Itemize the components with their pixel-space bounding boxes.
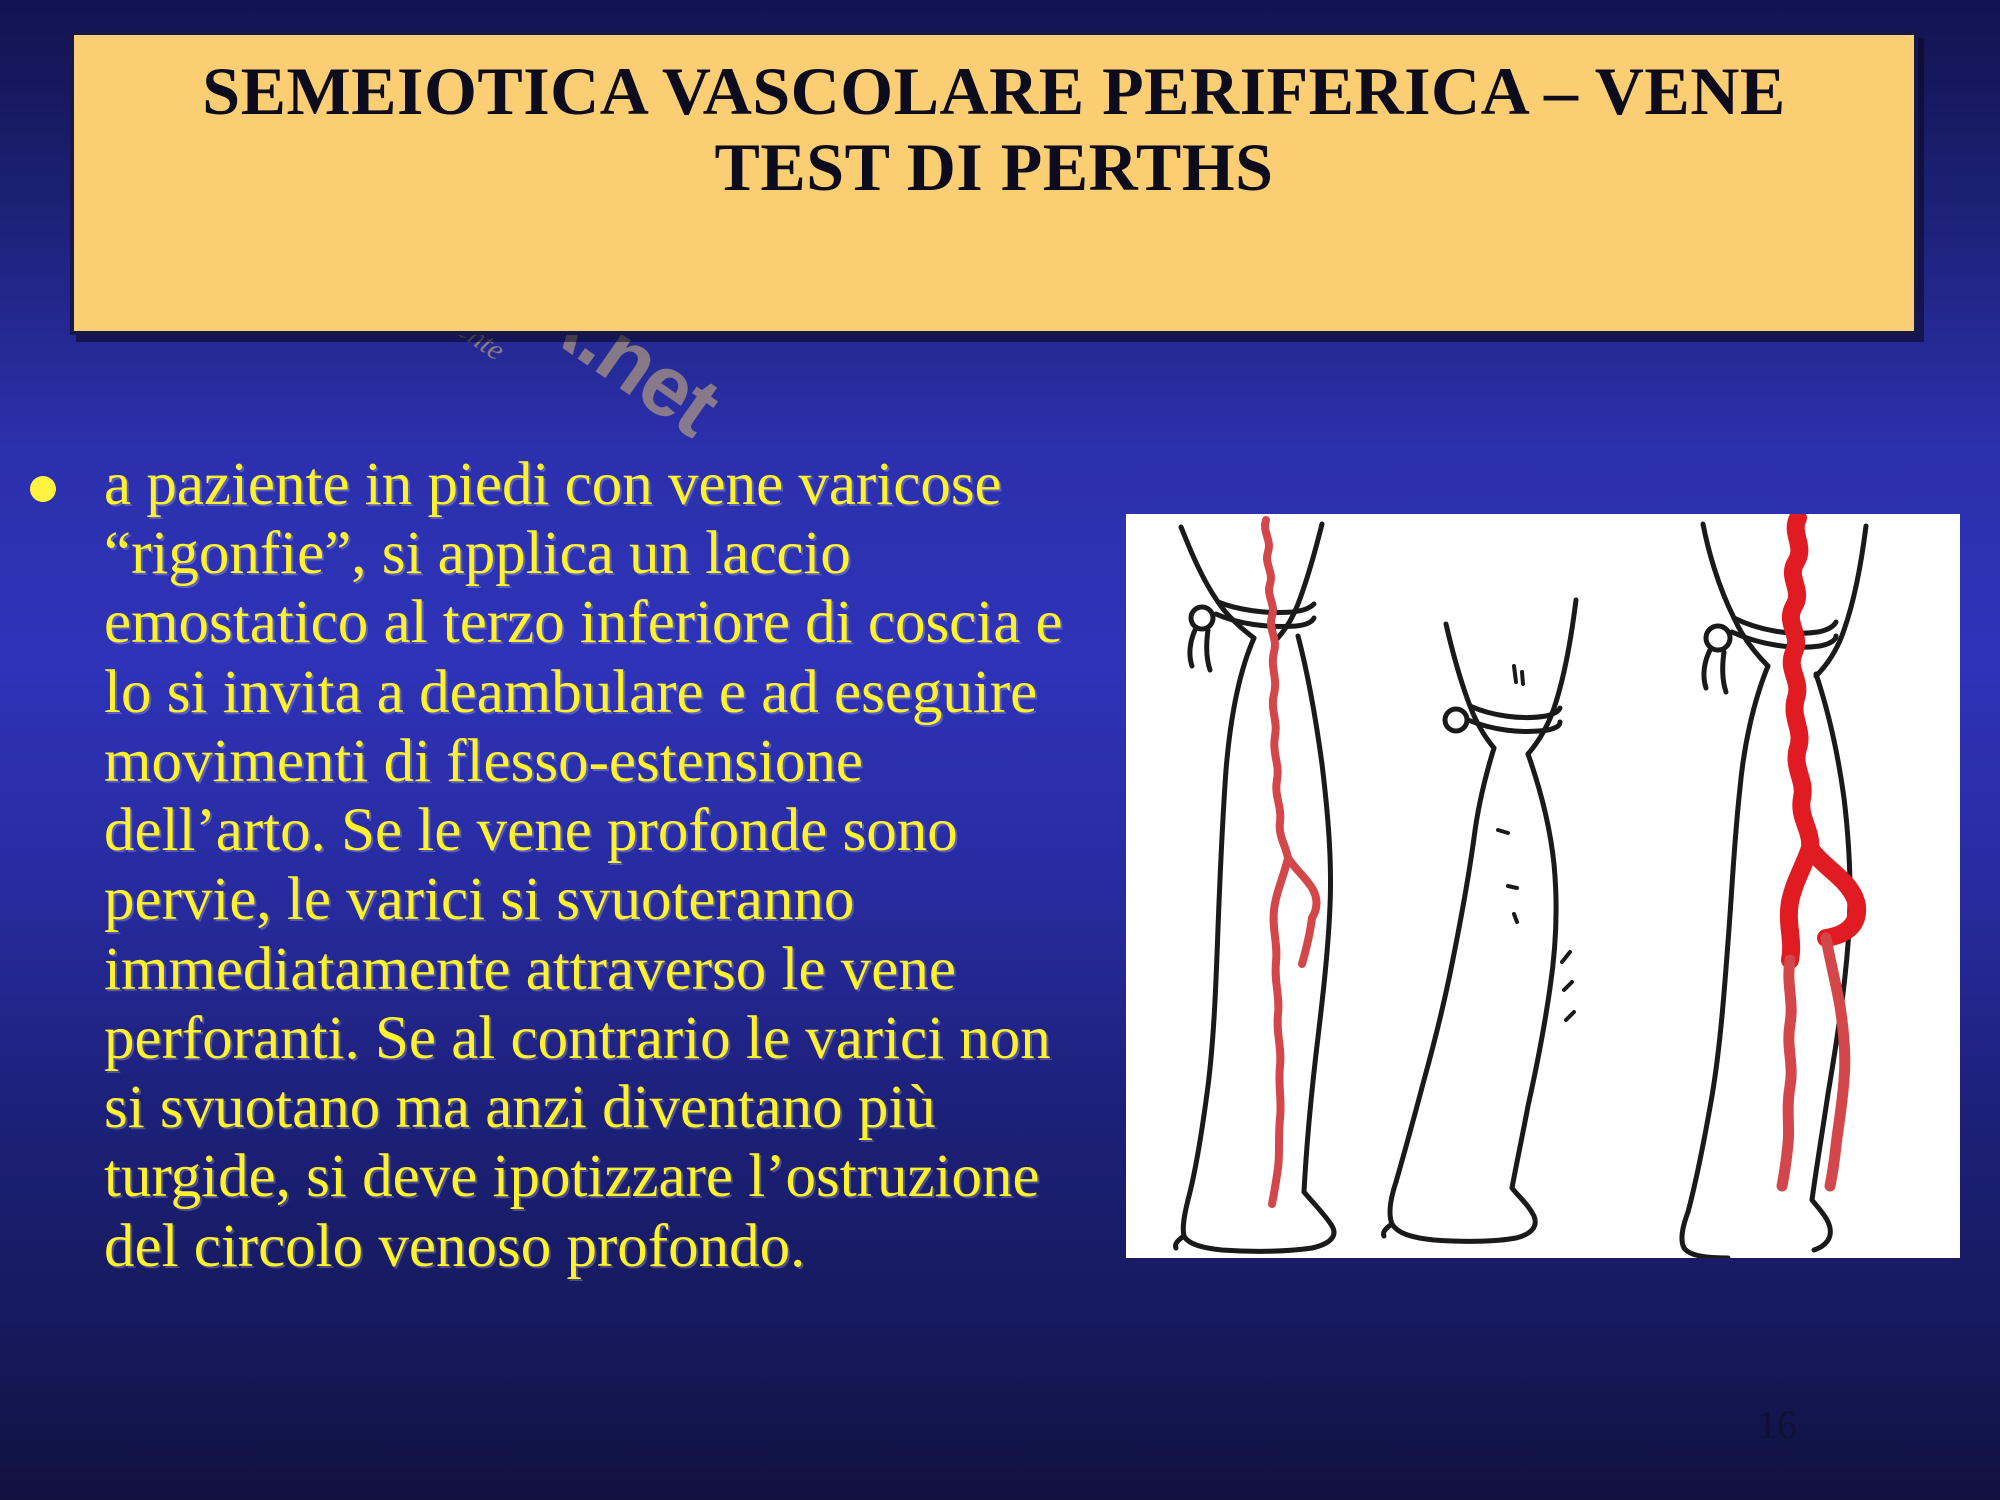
perths-test-illustration xyxy=(1126,514,1960,1258)
title-line-1: SEMEIOTICA VASCOLARE PERIFERICA – VENE xyxy=(202,53,1785,129)
body-paragraph: a paziente in piedi con vene varicose “r… xyxy=(104,450,1088,1281)
bullet-dot-icon xyxy=(30,476,56,502)
leg-middle-outline xyxy=(1383,600,1576,1241)
title-box: SEMEIOTICA VASCOLARE PERIFERICA – VENE T… xyxy=(70,31,1918,335)
slide-root: SKUOLA.net il portale dello studente SEM… xyxy=(0,0,2000,1500)
legs-diagram xyxy=(1126,514,1960,1258)
body-bullet-block: a paziente in piedi con vene varicose “r… xyxy=(18,450,1088,1281)
leg-right-vein xyxy=(1789,518,1857,960)
page-title: SEMEIOTICA VASCOLARE PERIFERICA – VENE T… xyxy=(74,35,1914,205)
page-number: 16 xyxy=(1757,1401,1797,1448)
title-line-2: TEST DI PERTHS xyxy=(715,129,1274,205)
